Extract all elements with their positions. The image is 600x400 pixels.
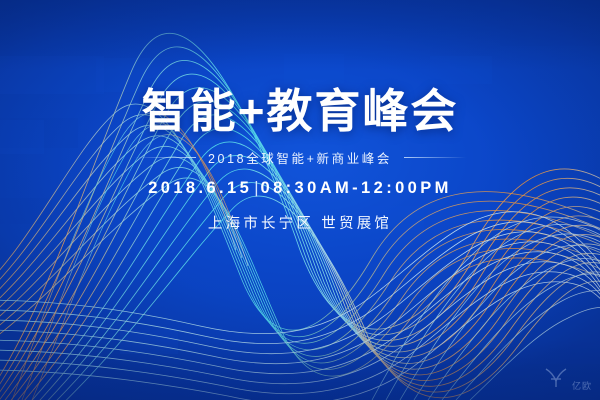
subtitle-rule-left [134, 157, 196, 158]
datetime-separator: | [252, 179, 260, 197]
poster-venue: 上海市长宁区 世贸展馆 [0, 212, 600, 233]
event-poster: 智能+教育峰会 2018全球智能+新商业峰会 2018.6.15|08:30AM… [0, 0, 600, 400]
poster-content: 智能+教育峰会 2018全球智能+新商业峰会 2018.6.15|08:30AM… [0, 0, 600, 233]
bottom-gradient-overlay [0, 340, 600, 400]
watermark: 亿欧 [543, 365, 592, 394]
watermark-text: 亿欧 [572, 379, 592, 394]
watermark-logo-icon [543, 365, 569, 394]
event-date: 2018.6.15 [148, 179, 252, 197]
subtitle-row: 2018全球智能+新商业峰会 [0, 148, 600, 167]
poster-subtitle: 2018全球智能+新商业峰会 [208, 148, 392, 167]
subtitle-rule-right [404, 157, 466, 158]
poster-datetime: 2018.6.15|08:30AM-12:00PM [0, 179, 600, 198]
poster-title: 智能+教育峰会 [0, 88, 600, 134]
event-time: 08:30AM-12:00PM [261, 179, 452, 197]
